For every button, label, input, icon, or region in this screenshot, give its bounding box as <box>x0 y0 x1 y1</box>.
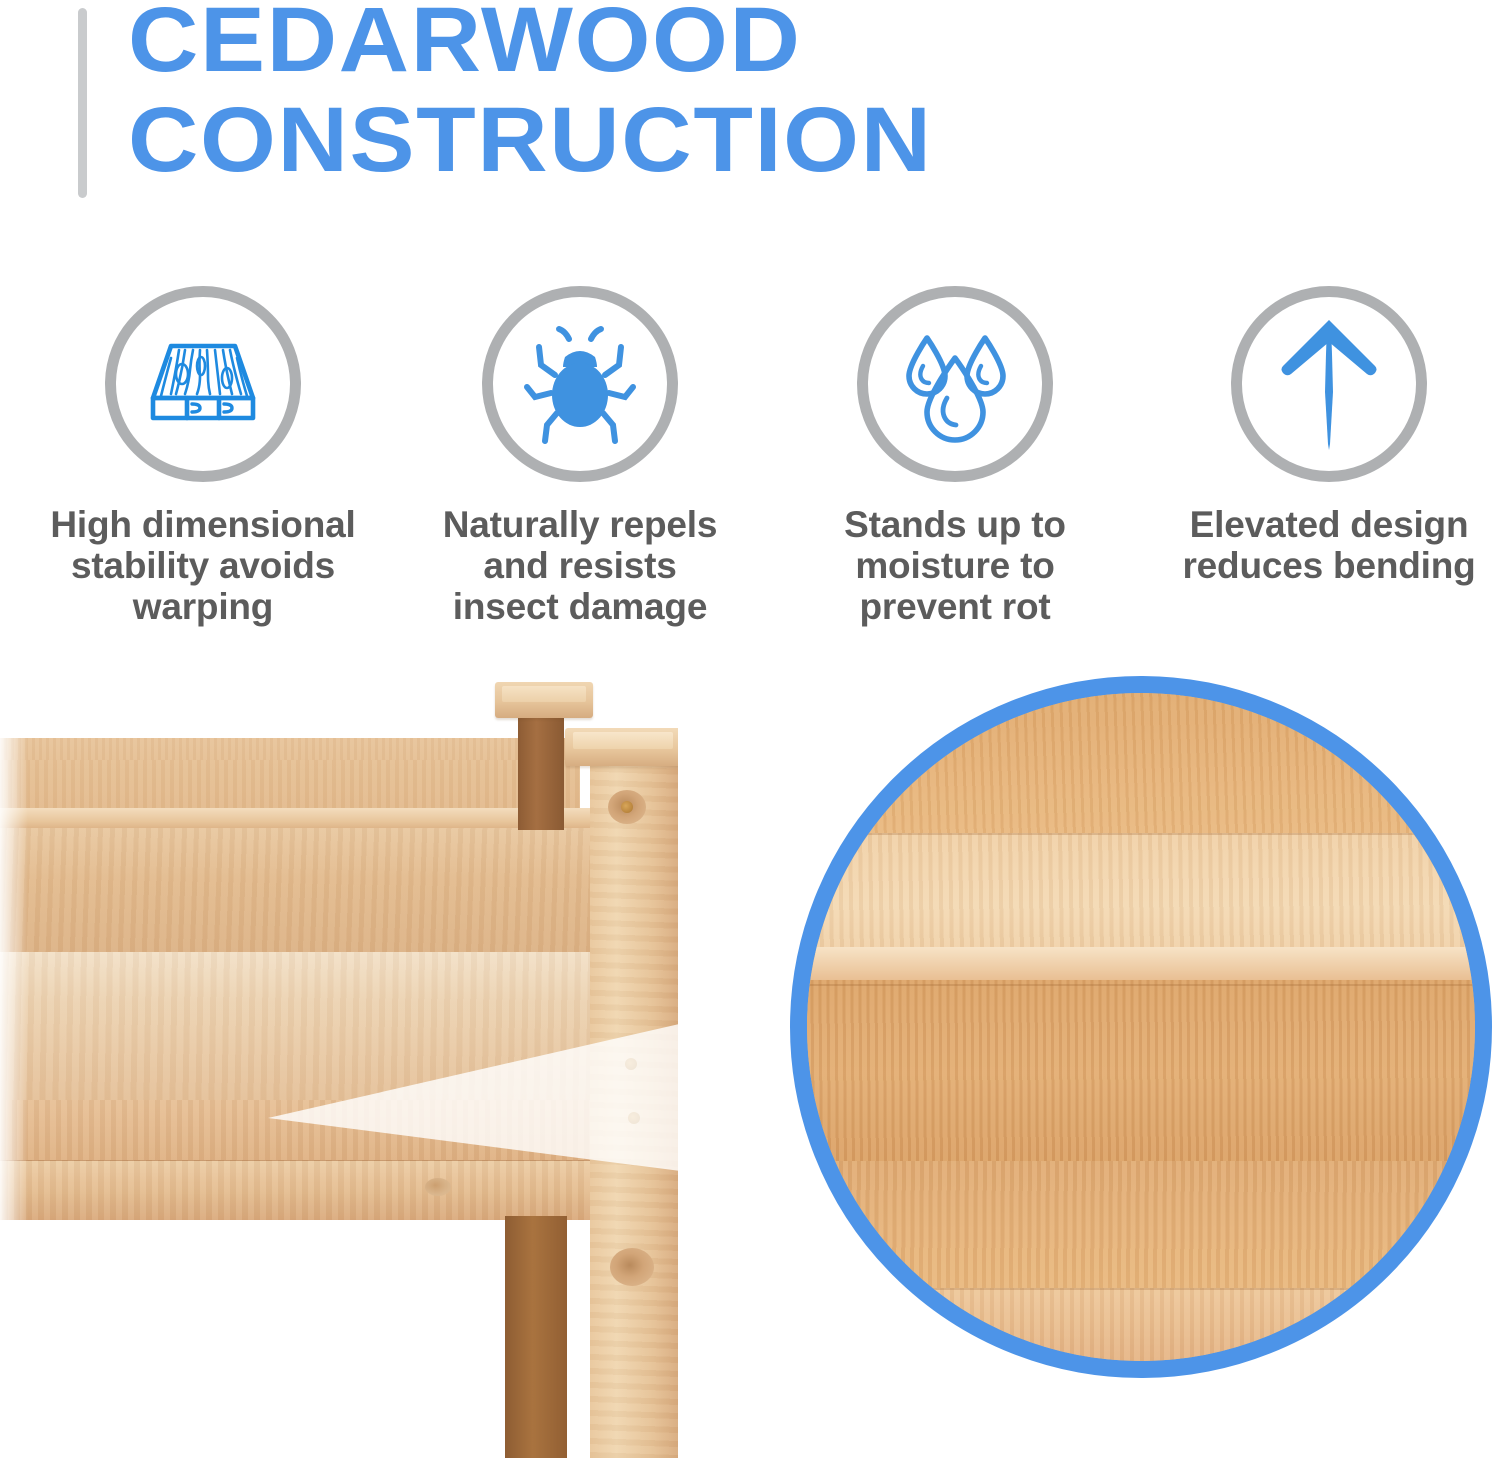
wood-knot-rail <box>425 1178 451 1196</box>
grain-band-1 <box>790 680 1492 840</box>
front-post-cap <box>565 728 681 766</box>
feature-label-2-line-2: and resists <box>400 545 760 586</box>
feature-label-3: Stands up to moisture to prevent rot <box>775 504 1135 627</box>
rear-post-cap <box>495 682 593 718</box>
product-photo <box>0 660 1500 1458</box>
feature-label-1-line-3: warping <box>23 586 383 627</box>
title-accent-rule <box>78 8 87 198</box>
feature-label-4-line-2: reduces bending <box>1149 545 1500 586</box>
plank-seam-2 <box>807 984 1475 986</box>
grain-band-6 <box>790 1288 1492 1375</box>
up-arrow-icon <box>1269 314 1389 454</box>
wood-grain-closeup-magnifier <box>790 676 1492 1378</box>
wood-grain-plank-icon <box>137 332 269 436</box>
feature-label-1: High dimensional stability avoids warpin… <box>23 504 383 627</box>
feature-label-2-line-3: insect damage <box>400 586 760 627</box>
feature-label-3-line-1: Stands up to <box>775 504 1135 545</box>
wood-grain-closeup-image <box>807 693 1475 1361</box>
bottom-frame-rail <box>0 1160 602 1220</box>
grain-band-4 <box>790 980 1492 1167</box>
top-rail <box>0 808 602 830</box>
feature-item-dimensional-stability: High dimensional stability avoids warpin… <box>17 286 389 627</box>
left-edge-fade <box>0 660 28 1458</box>
feature-label-1-line-1: High dimensional <box>23 504 383 545</box>
rear-corner-post <box>518 712 564 830</box>
feature-item-insect-resistance: Naturally repels and resists insect dama… <box>394 286 766 627</box>
front-slat-upper <box>0 828 602 956</box>
title-line-2: CONSTRUCTION <box>128 90 1400 190</box>
header: CEDARWOOD CONSTRUCTION <box>0 0 1500 230</box>
title-line-1: CEDARWOOD <box>128 0 1400 90</box>
feature-label-4: Elevated design reduces bending <box>1149 504 1500 586</box>
feature-label-1-line-2: stability avoids <box>23 545 383 586</box>
plank-seam-3 <box>807 1288 1475 1290</box>
plank-seam-1 <box>807 833 1475 835</box>
screw-head-1 <box>621 801 633 813</box>
feature-label-2: Naturally repels and resists insect dama… <box>400 504 760 627</box>
grain-band-5 <box>790 1161 1492 1295</box>
feature-label-3-line-2: moisture to <box>775 545 1135 586</box>
feature-item-elevated-design: Elevated design reduces bending <box>1143 286 1500 586</box>
water-droplets-icon <box>893 322 1017 446</box>
feature-label-4-line-1: Elevated design <box>1149 504 1500 545</box>
icon-circle-2 <box>482 286 678 482</box>
icon-circle-4 <box>1231 286 1427 482</box>
rear-leg <box>505 1216 567 1458</box>
feature-label-2-line-1: Naturally repels <box>400 504 760 545</box>
grain-band-2 <box>790 833 1492 953</box>
feature-list: High dimensional stability avoids warpin… <box>0 286 1500 646</box>
infographic-page: CEDARWOOD CONSTRUCTION <box>0 0 1500 1458</box>
wood-knot-post-lower <box>610 1248 654 1286</box>
feature-item-moisture-resistance: Stands up to moisture to prevent rot <box>769 286 1141 627</box>
icon-circle-3 <box>857 286 1053 482</box>
page-title: CEDARWOOD CONSTRUCTION <box>128 0 1328 190</box>
feature-label-3-line-3: prevent rot <box>775 586 1135 627</box>
icon-circle-1 <box>105 286 301 482</box>
insect-bug-icon <box>521 321 639 447</box>
